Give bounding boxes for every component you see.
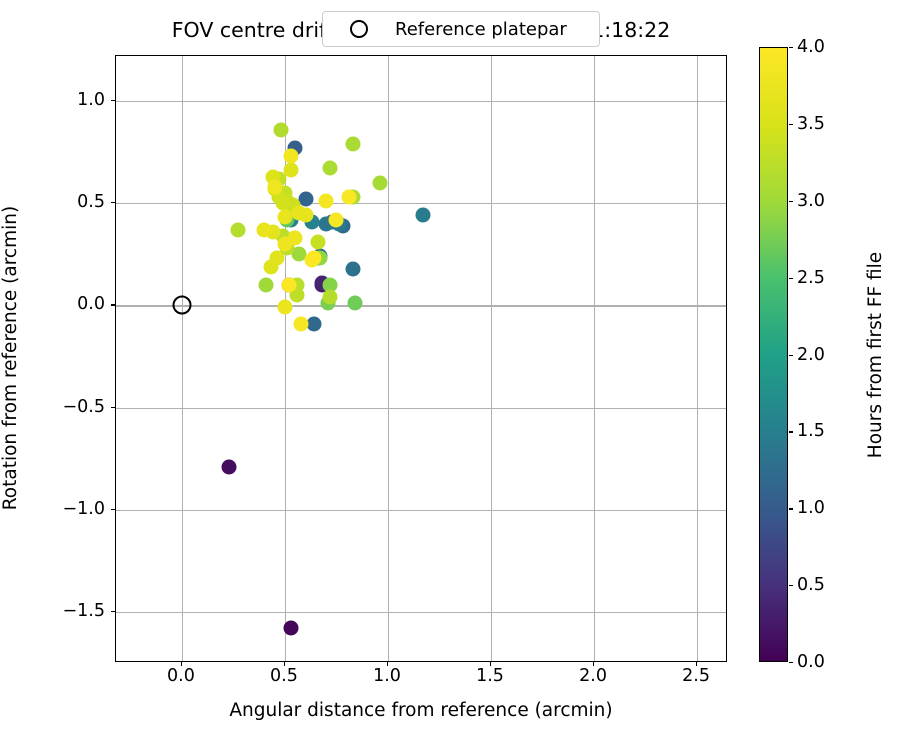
y-tick-label: 0.5: [77, 192, 105, 212]
scatter-point: [348, 296, 363, 311]
colorbar-tick-label: 0.0: [797, 652, 825, 672]
plot-axes: [115, 55, 727, 662]
colorbar-tick-label: 0.5: [797, 575, 825, 595]
colorbar-tick: [789, 508, 793, 509]
gridline-vertical: [697, 56, 698, 661]
x-tick-label: 1.5: [476, 666, 504, 686]
y-tick-label: 1.0: [77, 90, 105, 110]
scatter-point: [259, 277, 274, 292]
gridline-horizontal: [116, 612, 726, 613]
x-tick-label: 2.0: [579, 666, 607, 686]
scatter-point: [341, 190, 356, 205]
y-tick-label: −1.0: [63, 499, 106, 519]
reference-platepar-marker: [172, 296, 191, 315]
y-tick: [111, 304, 115, 305]
scatter-point: [284, 163, 299, 178]
colorbar: [759, 47, 788, 662]
scatter-point: [222, 459, 237, 474]
x-tick-label: 2.5: [682, 666, 710, 686]
gridline-vertical: [491, 56, 492, 661]
scatter-point: [292, 206, 307, 221]
scatter-point: [275, 196, 290, 211]
scatter-point: [269, 251, 284, 266]
open-circle-icon: [350, 20, 368, 38]
x-axis-label: Angular distance from reference (arcmin): [115, 700, 727, 721]
scatter-point: [345, 136, 360, 151]
colorbar-tick: [789, 431, 793, 432]
colorbar-tick: [789, 662, 793, 663]
gridline-horizontal: [116, 203, 726, 204]
legend-marker-cell: [323, 20, 395, 38]
scatter-point: [372, 175, 387, 190]
gridline-vertical: [594, 56, 595, 661]
scatter-point: [277, 210, 292, 225]
gridline-vertical: [182, 56, 183, 661]
legend: Reference platepar: [322, 11, 600, 47]
scatter-point: [345, 261, 360, 276]
scatter-point: [284, 621, 299, 636]
scatter-point: [323, 161, 338, 176]
scatter-point: [277, 237, 292, 252]
y-tick: [111, 509, 115, 510]
x-tick-label: 1.0: [373, 666, 401, 686]
y-tick: [111, 611, 115, 612]
y-tick: [111, 202, 115, 203]
colorbar-tick-label: 1.5: [797, 421, 825, 441]
gridline-horizontal: [116, 305, 726, 306]
gridline-horizontal: [116, 101, 726, 102]
scatter-point: [257, 222, 272, 237]
gridline-vertical: [285, 56, 286, 661]
colorbar-tick-label: 2.5: [797, 268, 825, 288]
scatter-point: [267, 179, 282, 194]
scatter-point: [282, 277, 297, 292]
y-tick: [111, 100, 115, 101]
scatter-point: [310, 234, 325, 249]
scatter-point: [416, 208, 431, 223]
x-tick-label: 0.5: [270, 666, 298, 686]
y-axis-label: Rotation from reference (arcmin): [0, 206, 21, 510]
colorbar-tick: [789, 278, 793, 279]
gridline-horizontal: [116, 510, 726, 511]
colorbar-tick: [789, 355, 793, 356]
scatter-point: [284, 149, 299, 164]
gridline-vertical: [388, 56, 389, 661]
colorbar-tick: [789, 201, 793, 202]
gridline-horizontal: [116, 408, 726, 409]
scatter-point: [294, 316, 309, 331]
legend-entry-label: Reference platepar: [395, 19, 567, 40]
colorbar-gradient: [760, 48, 787, 661]
colorbar-tick-label: 2.0: [797, 345, 825, 365]
scatter-point: [230, 222, 245, 237]
y-tick: [111, 407, 115, 408]
colorbar-tick-label: 3.0: [797, 191, 825, 211]
scatter-point: [329, 212, 344, 227]
x-tick-label: 0.0: [167, 666, 195, 686]
scatter-point: [319, 194, 334, 209]
colorbar-label: Hours from first FF file: [865, 252, 886, 458]
colorbar-tick: [789, 585, 793, 586]
scatter-point: [277, 300, 292, 315]
colorbar-tick-label: 4.0: [797, 37, 825, 57]
colorbar-tick: [789, 124, 793, 125]
y-tick-label: −0.5: [63, 397, 106, 417]
colorbar-tick-label: 3.5: [797, 114, 825, 134]
y-tick-label: −1.5: [63, 601, 106, 621]
y-tick-label: 0.0: [77, 294, 105, 314]
scatter-point: [306, 251, 321, 266]
scatter-point: [323, 290, 338, 305]
figure-canvas: FOV centre drift starting at 2025/10/21 …: [0, 0, 900, 750]
scatter-point: [273, 122, 288, 137]
colorbar-tick-label: 1.0: [797, 498, 825, 518]
colorbar-tick: [789, 47, 793, 48]
